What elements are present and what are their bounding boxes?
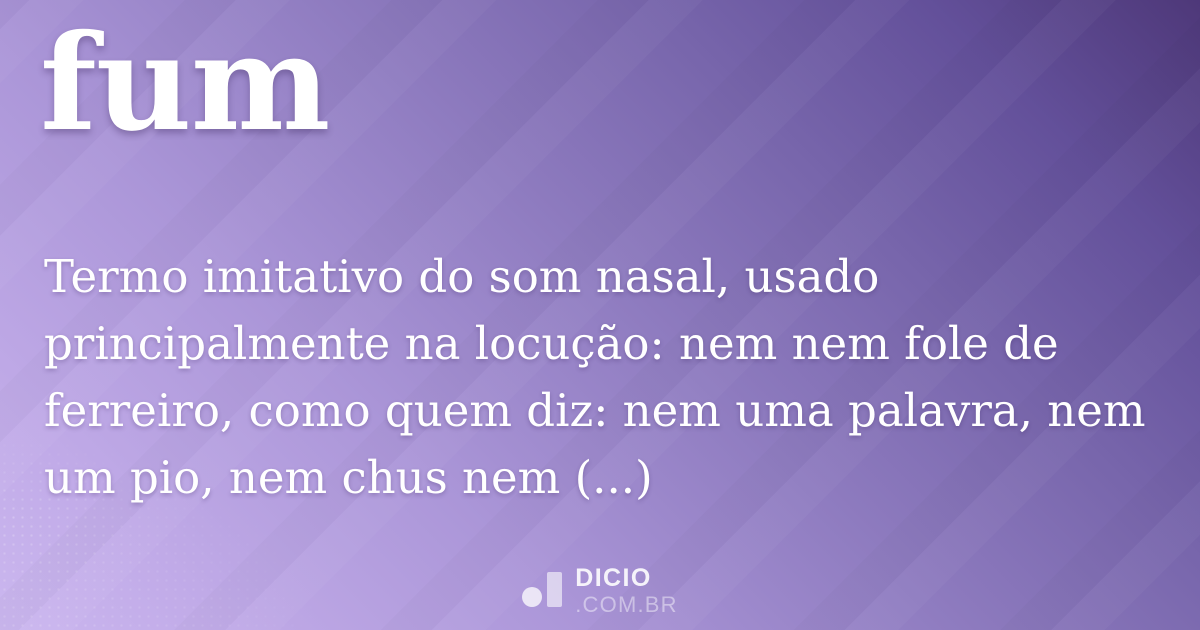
brand-logo: DICIO .COM.BR bbox=[0, 565, 1200, 616]
definition-text: Termo imitativo do som nasal, usado prin… bbox=[44, 243, 1154, 511]
logo-circle-icon bbox=[522, 587, 542, 607]
card-content: fum Termo imitativo do som nasal, usado … bbox=[0, 0, 1200, 630]
brand-wordmark: DICIO .COM.BR bbox=[575, 565, 678, 616]
logo-bar-icon bbox=[547, 572, 562, 607]
brand-tld-label: .COM.BR bbox=[575, 594, 678, 616]
logo-mark-icon bbox=[522, 565, 562, 607]
brand-name-label: DICIO bbox=[575, 566, 678, 591]
page-title: fum bbox=[40, 18, 329, 150]
share-card: fum Termo imitativo do som nasal, usado … bbox=[0, 0, 1200, 630]
